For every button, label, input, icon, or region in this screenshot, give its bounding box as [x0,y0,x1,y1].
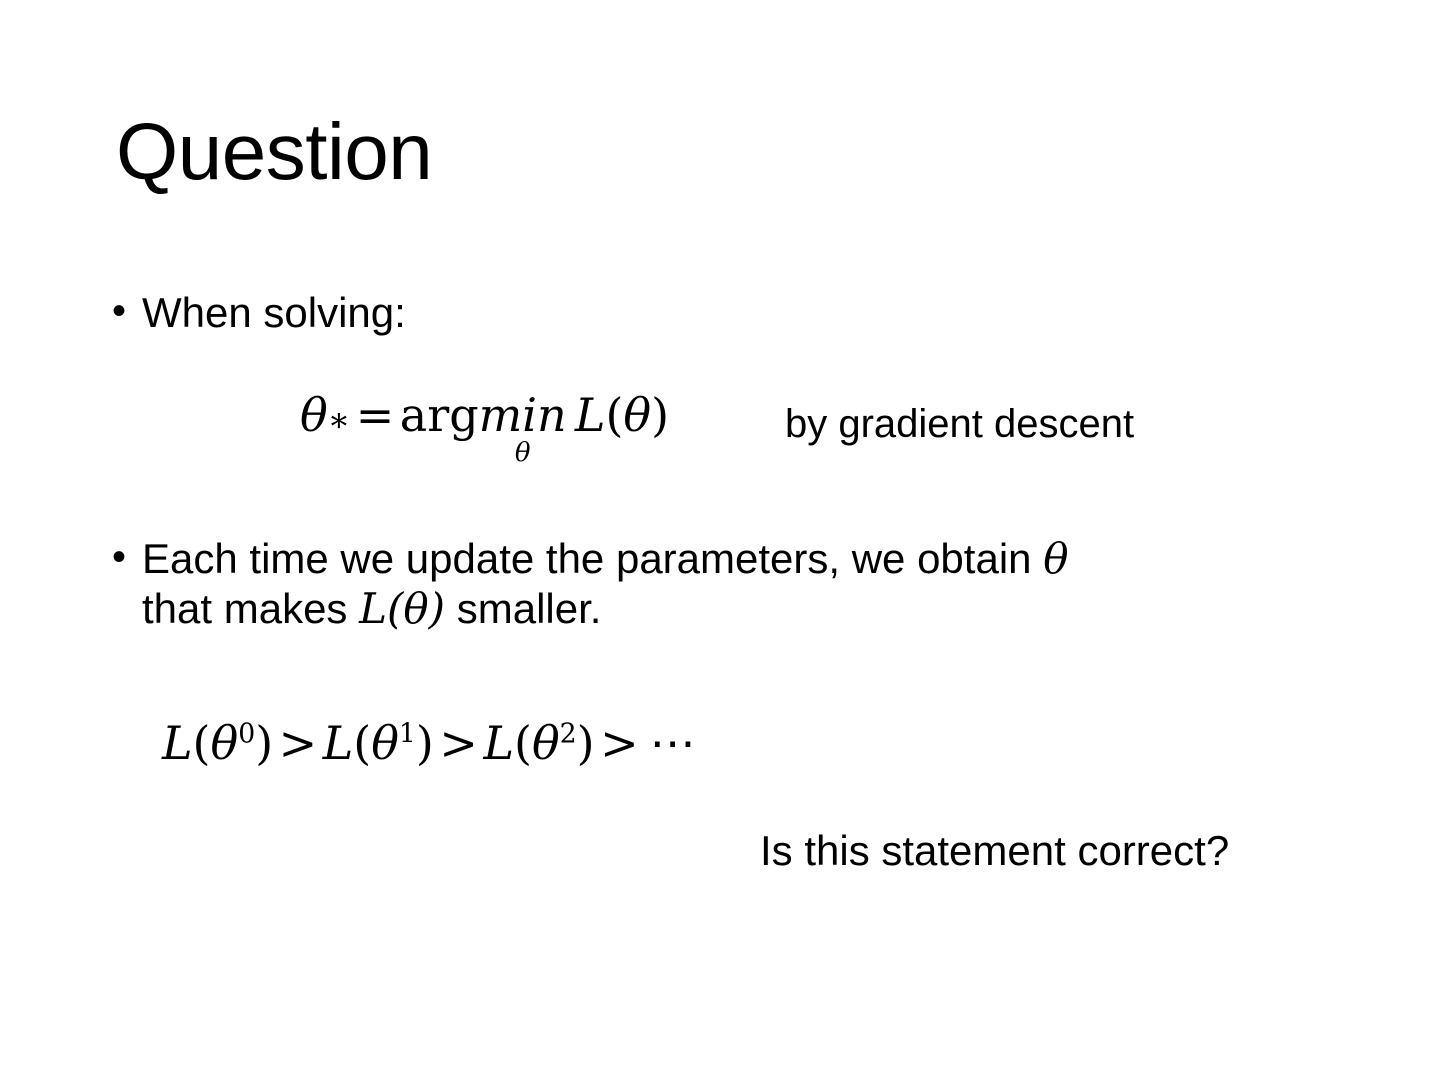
bullet-item-each-time: • Each time we update the parameters, we… [112,534,1342,635]
equation-annotation-gradient-descent: by gradient descent [785,400,1134,448]
equation-min-subscript: θ [515,440,531,466]
bullet-each-time-loss-term: L(θ) [359,584,445,633]
page-title: Question [116,110,432,194]
inequality-term-2-arg: θ [532,716,560,770]
bullet-each-time-text: Each time we update the parameters, we o… [142,535,1043,582]
equation-argmin: θ∗ = arg min θ L(θ) [300,392,669,466]
inequality-term-2: L(θ2) [483,716,594,770]
inequality-term-0-close-paren: ) [255,716,273,770]
inequality-term-1-open-paren: ( [353,716,371,770]
equation-objective-open-paren: ( [605,392,623,438]
inequality-term-0: L(θ0) [162,716,273,770]
inequality-term-0-name: L [162,716,193,770]
inequality-operator-0: > [273,716,323,770]
inequality-term-2-name: L [483,716,514,770]
inequality-term-1-superscript: 1 [399,719,416,750]
inequality-term-1: L(θ1) [323,716,434,770]
inequality-term-1-name: L [323,716,354,770]
inequality-chain: L(θ0)>L(θ1)>L(θ2)>⋯ [162,718,701,769]
equation-lhs-symbol: θ [300,392,328,438]
bullet-marker-icon: • [112,288,142,335]
inequality-term-2-superscript: 2 [560,719,577,750]
bullet-each-time-line2-before: that makes [142,585,359,632]
equation-expression: θ∗ = arg min θ L(θ) [300,392,669,466]
inequality-term-2-close-paren: ) [577,716,595,770]
bullet-each-time-theta: θ [1043,534,1068,583]
inequality-operator-1: > [434,716,484,770]
bullet-item-when-solving: • When solving: [112,288,406,338]
closing-question-text: Is this statement correct? [760,826,1229,876]
equation-objective-name: L [575,392,606,438]
bullet-marker-icon: • [112,534,142,581]
bullet-label-when-solving: When solving: [142,288,406,338]
equation-objective-close-paren: ) [651,392,669,438]
inequality-term-2-open-paren: ( [514,716,532,770]
bullet-label-each-time: Each time we update the parameters, we o… [142,534,1068,635]
inequality-term-1-arg: θ [371,716,399,770]
equation-min-label: min [479,392,567,438]
equation-lhs-superscript: ∗ [328,403,351,436]
equation-equals-sign: = [350,392,400,438]
inequality-operator-2: > [595,716,645,770]
inequality-term-0-open-paren: ( [193,716,211,770]
inequality-term-1-close-paren: ) [416,716,434,770]
bullet-each-time-line2-after: smaller. [445,585,601,632]
equation-min-operator: min θ [479,392,567,466]
inequality-term-0-arg: θ [211,716,239,770]
inequality-term-0-superscript: 0 [238,719,255,750]
inequality-ellipsis: ⋯ [644,716,701,770]
equation-objective-argument: θ [623,392,651,438]
slide-canvas: Question • When solving: θ∗ = arg min θ … [0,0,1440,1080]
equation-arg-operator: arg [400,392,479,438]
